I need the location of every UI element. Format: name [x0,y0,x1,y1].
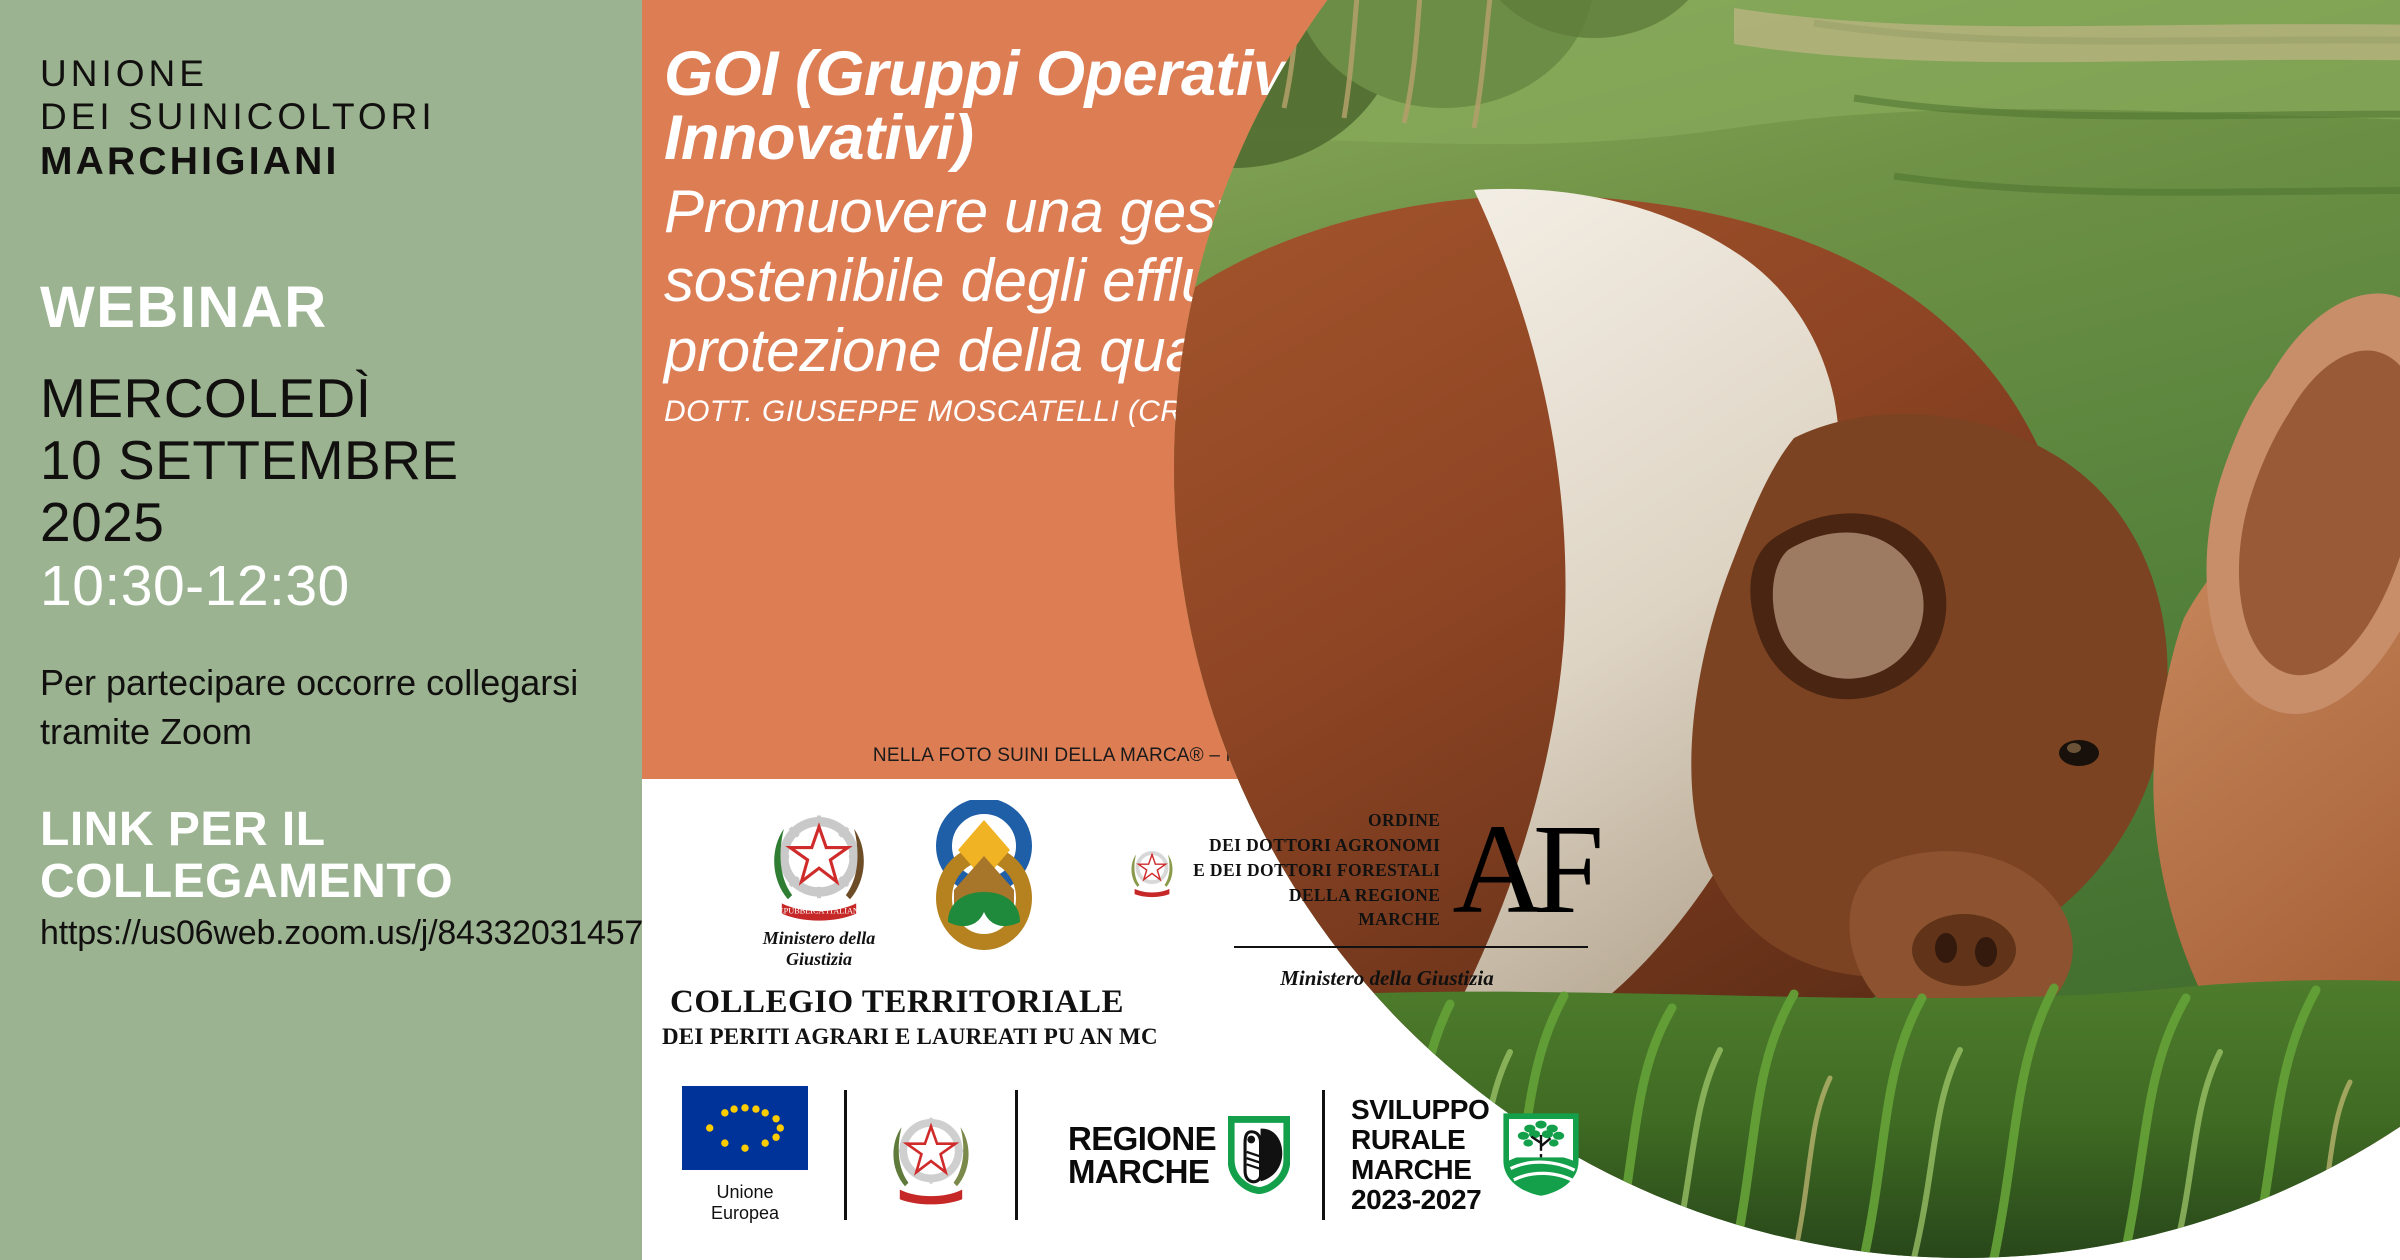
event-type-label: WEBINAR [40,279,642,337]
logo-divider-1 [844,1090,847,1220]
sviluppo-line-2: RURALE [1351,1125,1489,1155]
link-heading: LINK PER IL COLLEGAMENTO [40,804,642,908]
partner-logos-bottom-row: Unione Europea [642,1075,1702,1235]
periti-agrari-icon [922,800,1042,950]
event-date-block: MERCOLEDÌ 10 SETTEMBRE 2025 10:30-12:30 [40,367,642,619]
ministero-giustizia-caption-2: Ministero della Giustizia [1182,966,1592,991]
left-info-panel: UNIONE DEI SUINICOLTORI MARCHIGIANI WEBI… [0,0,642,1260]
event-day: MERCOLEDÌ [40,367,642,429]
logo-unione-europea: Unione Europea [682,1086,822,1224]
ordine-text-block: ORDINE DEI DOTTORI AGRONOMI E DEI DOTTOR… [1193,808,1440,932]
link-heading-line-1: LINK PER IL [40,804,642,856]
sviluppo-line-1: SVILUPPO [1351,1095,1489,1125]
logo-divider-3 [1322,1090,1325,1220]
zoom-link-url[interactable]: https://us06web.zoom.us/j/84332031457 [40,914,642,953]
event-year: 2025 [40,491,642,553]
ordine-line-4: DELLA REGIONE [1193,883,1440,908]
logo-repubblica-italiana [871,1103,991,1207]
ordine-line-1: ORDINE [1193,808,1440,833]
af-monogram: AF [1452,820,1592,920]
sviluppo-rurale-text: SVILUPPO RURALE MARCHE 2023-2027 [1351,1095,1489,1215]
svg-text:REPUBBLICA ITALIANA: REPUBBLICA ITALIANA [773,907,865,916]
regione-marche-shield-icon [1228,1116,1290,1194]
webinar-poster: UNIONE DEI SUINICOLTORI MARCHIGIANI WEBI… [0,0,2400,1260]
periti-agrari-logo [922,800,1042,955]
collegio-title: COLLEGIO TERRITORIALE [662,984,1132,1021]
italian-republic-emblem-bottom [879,1103,983,1207]
event-date: 10 SETTEMBRE [40,429,642,491]
italian-republic-emblem: REPUBBLICA ITALIANA Ministero della Gius… [752,800,886,970]
org-line-3: MARCHIGIANI [40,139,642,185]
ordine-divider [1234,946,1588,948]
regione-line-2: MARCHE [1068,1155,1216,1188]
sviluppo-line-4: 2023-2027 [1351,1185,1489,1215]
org-line-2: DEI SUINICOLTORI [40,95,642,138]
collegio-subtitle: DEI PERITI AGRARI E LAUREATI PU AN MC [662,1024,1132,1050]
logo-ordine-agronomi: ORDINE DEI DOTTORI AGRONOMI E DEI DOTTOR… [1182,808,1592,991]
eu-flag-icon [682,1086,808,1170]
logo-divider-2 [1015,1090,1018,1220]
logo-collegio-territoriale: REPUBBLICA ITALIANA Ministero della Gius… [662,800,1132,1050]
pig-photo-circle [1174,0,2400,1258]
ordine-line-5: MARCHE [1193,907,1440,932]
right-content-area: GOI (Gruppi Operativi Innovativi) Promuo… [642,0,2400,1260]
ordine-line-3: E DEI DOTTORI FORESTALI [1193,858,1440,883]
org-line-1: UNIONE [40,52,642,95]
event-time: 10:30-12:30 [40,554,642,620]
eu-caption: Unione Europea [682,1182,808,1224]
logo-regione-marche: REGIONE MARCHE [1068,1116,1290,1194]
pig-photo-image [1174,0,2400,1258]
italian-republic-emblem-small [1123,841,1181,899]
join-instructions: Per partecipare occorre collegarsi trami… [40,659,620,756]
regione-line-1: REGIONE [1068,1122,1216,1155]
organization-name: UNIONE DEI SUINICOLTORI MARCHIGIANI [40,52,642,184]
regione-marche-text: REGIONE MARCHE [1068,1122,1216,1188]
partner-logos-top-row: REPUBBLICA ITALIANA Ministero della Gius… [642,800,1642,1040]
sviluppo-line-3: MARCHE [1351,1155,1489,1185]
ministero-giustizia-caption-1: Ministero della Giustizia [752,928,886,970]
sviluppo-rurale-shield-icon [1501,1111,1581,1199]
emblem-icon: REPUBBLICA ITALIANA [752,800,886,924]
logo-sviluppo-rurale-marche: SVILUPPO RURALE MARCHE 2023-2027 [1351,1095,1581,1215]
ordine-line-2: DEI DOTTORI AGRONOMI [1193,833,1440,858]
link-heading-line-2: COLLEGAMENTO [40,856,642,908]
